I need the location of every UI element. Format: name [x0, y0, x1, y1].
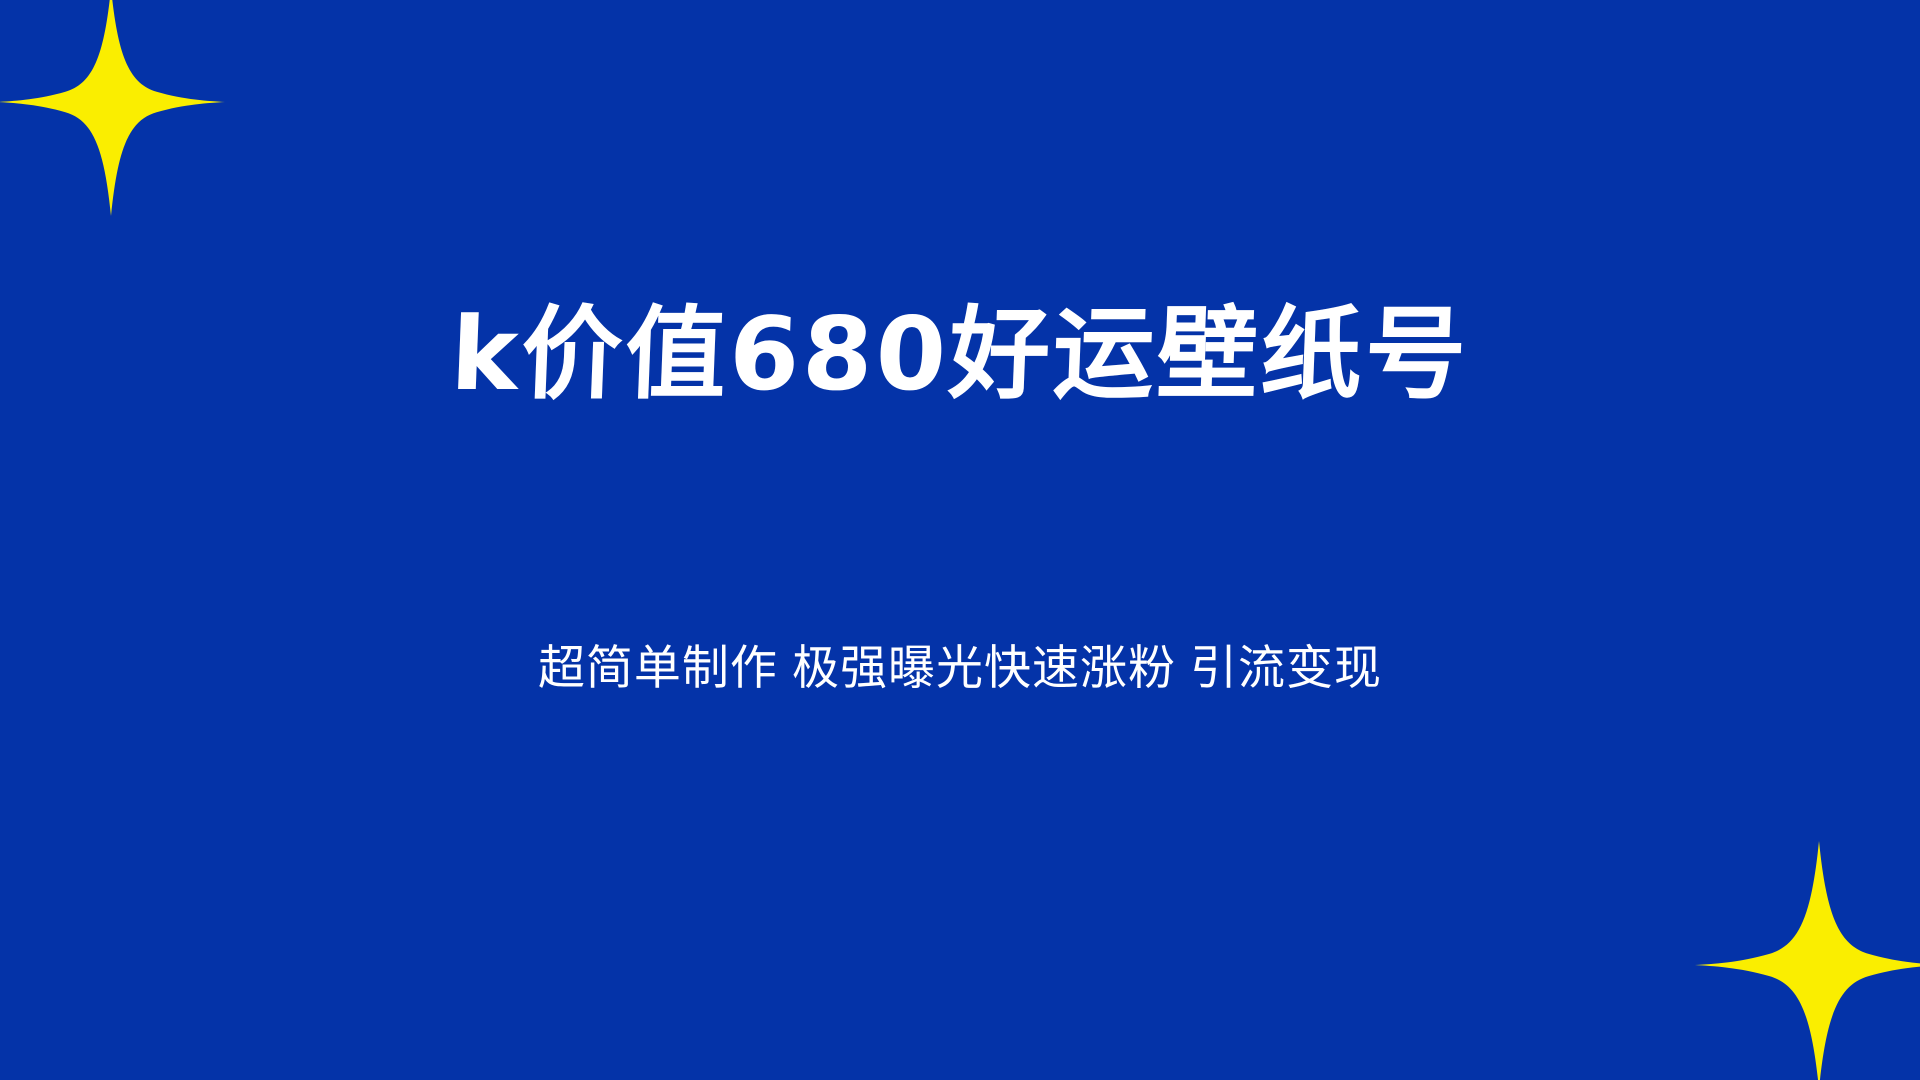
slide-text-block: k价值680好运壁纸号 超简单制作 极强曝光快速涨粉 引流变现 [0, 0, 1920, 1080]
page-title: k价值680好运壁纸号 [0, 296, 1920, 413]
slide-subtitle: 超简单制作 极强曝光快速涨粉 引流变现 [0, 637, 1920, 698]
slide-canvas: k价值680好运壁纸号 超简单制作 极强曝光快速涨粉 引流变现 [0, 0, 1920, 1080]
